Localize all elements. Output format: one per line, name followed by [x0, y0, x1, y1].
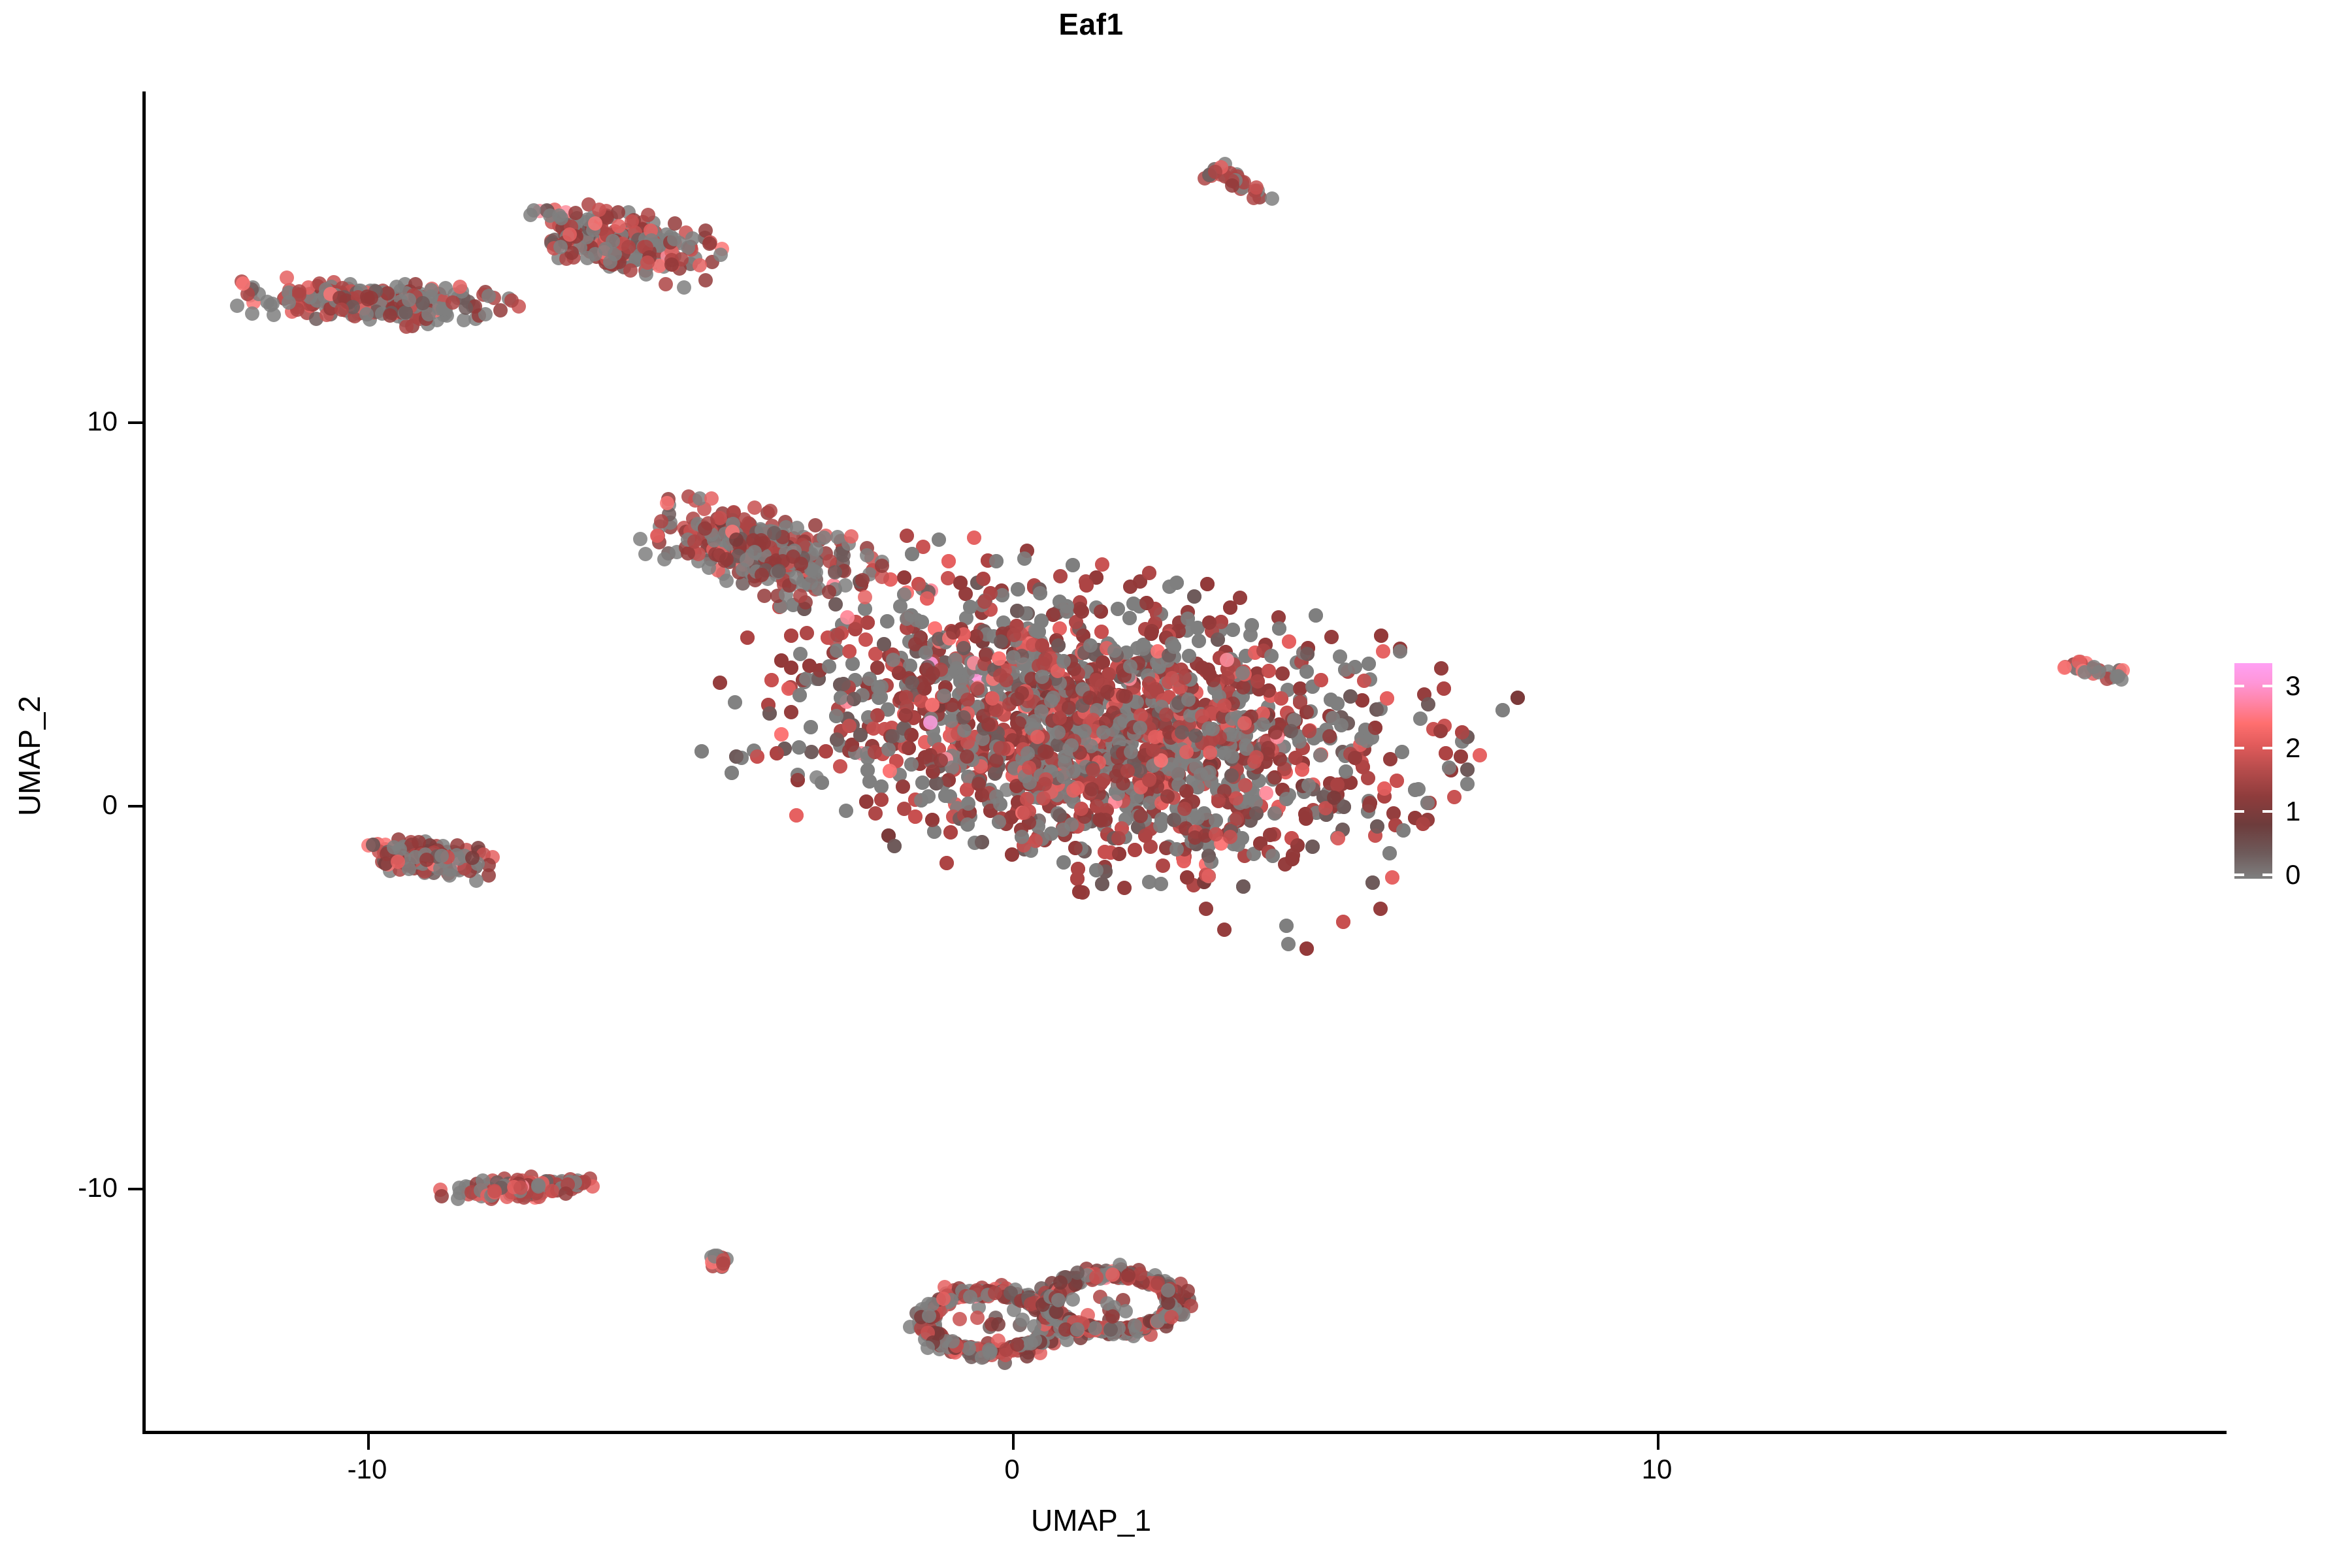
- scatter-point: [641, 208, 655, 222]
- scatter-point: [1220, 671, 1235, 685]
- scatter-point: [828, 597, 843, 612]
- scatter-point: [1300, 647, 1315, 661]
- scatter-point: [1030, 730, 1045, 744]
- scatter-point: [1169, 842, 1184, 857]
- scatter-point: [1377, 781, 1392, 796]
- scatter-point: [1156, 858, 1170, 873]
- scatter-point: [1187, 589, 1201, 604]
- scatter-point: [822, 659, 836, 674]
- scatter-point: [1073, 602, 1087, 616]
- scatter-point: [1256, 717, 1270, 732]
- scatter-point: [1279, 792, 1294, 806]
- scatter-point: [953, 576, 968, 590]
- scatter-point: [1145, 624, 1159, 638]
- scatter-point: [925, 813, 939, 827]
- scatter-point: [1434, 661, 1448, 676]
- scatter-point: [1447, 790, 1462, 804]
- scatter-point: [1044, 826, 1058, 841]
- scatter-point: [1227, 728, 1241, 742]
- scatter-point: [625, 214, 639, 229]
- scatter-point: [230, 299, 244, 313]
- scatter-point: [1274, 691, 1288, 706]
- scatter-point: [1199, 902, 1213, 916]
- scatter-point: [967, 531, 981, 545]
- scatter-point: [1138, 828, 1152, 843]
- scatter-point: [523, 208, 538, 222]
- scatter-point: [1051, 638, 1066, 653]
- scatter-point: [1305, 840, 1320, 854]
- scatter-point: [956, 710, 971, 725]
- scatter-point: [887, 839, 902, 853]
- scatter-point: [983, 586, 998, 600]
- scatter-point: [866, 721, 881, 736]
- scatter-point: [1473, 748, 1487, 762]
- scatter-point: [784, 661, 798, 675]
- scatter-point: [911, 577, 926, 591]
- scatter-point: [1056, 855, 1071, 870]
- scatter-point: [603, 255, 617, 269]
- scatter-point: [804, 720, 818, 734]
- scatter-point: [1201, 849, 1216, 863]
- scatter-point: [553, 240, 568, 254]
- scatter-point: [1179, 745, 1194, 759]
- scatter-point: [989, 554, 1004, 568]
- scatter-point: [282, 295, 296, 310]
- scatter-point: [842, 644, 857, 659]
- scatter-point: [1376, 644, 1390, 659]
- scatter-point: [402, 293, 416, 307]
- scatter-point: [725, 766, 739, 780]
- scatter-point: [792, 740, 806, 755]
- scatter-point: [960, 817, 975, 832]
- scatter-point: [868, 806, 883, 821]
- scatter-point: [993, 741, 1007, 755]
- scatter-point: [1370, 819, 1384, 834]
- scatter-point: [1010, 692, 1024, 706]
- scatter-point: [941, 773, 956, 787]
- scatter-point: [1290, 838, 1305, 853]
- scatter-point: [1201, 721, 1216, 736]
- scatter-point: [563, 227, 577, 242]
- scatter-point: [764, 673, 779, 687]
- scatter-point: [1053, 569, 1068, 583]
- scatter-point: [1202, 615, 1217, 630]
- scatter-point: [713, 676, 727, 690]
- scatter-point: [677, 280, 691, 295]
- scatter-point: [1299, 664, 1314, 679]
- scatter-point: [1064, 817, 1079, 832]
- scatter-point: [874, 792, 889, 807]
- scatter-point: [453, 280, 467, 294]
- scatter-point: [1265, 191, 1279, 206]
- scatter-point: [1017, 806, 1032, 820]
- scatter-point: [1126, 596, 1141, 611]
- scatter-point: [1020, 792, 1034, 806]
- scatter-point: [1035, 638, 1049, 653]
- scatter-point: [923, 748, 938, 762]
- scatter-point: [1309, 608, 1323, 623]
- scatter-point: [1279, 919, 1294, 933]
- scatter-point: [1128, 843, 1142, 857]
- scatter-point: [870, 708, 885, 723]
- scatter-point: [245, 306, 259, 321]
- scatter-point: [1074, 802, 1088, 816]
- scatter-point: [1322, 729, 1337, 743]
- scatter-point: [1437, 681, 1451, 696]
- scatter-point: [1382, 846, 1397, 860]
- scatter-point: [793, 647, 808, 661]
- scatter-point: [1421, 697, 1435, 711]
- scatter-point: [1261, 741, 1275, 755]
- scatter-point: [1368, 721, 1382, 735]
- scatter-point: [845, 657, 860, 671]
- scatter-point: [941, 554, 956, 568]
- scatter-point: [1177, 670, 1192, 685]
- scatter-point: [1079, 578, 1094, 593]
- scatter-point: [1179, 784, 1194, 798]
- scatter-point: [1413, 711, 1428, 726]
- scatter-point: [383, 308, 397, 323]
- scatter-point: [923, 715, 938, 730]
- scatter-point: [1033, 586, 1047, 600]
- scatter-point: [1068, 841, 1083, 855]
- scatter-point: [606, 234, 620, 248]
- scatter-point: [1090, 799, 1104, 813]
- scatter-point: [1237, 716, 1252, 730]
- scatter-point: [1420, 796, 1435, 810]
- scatter-point: [1455, 725, 1469, 740]
- scatter-point: [750, 749, 764, 764]
- scatter-point: [1154, 877, 1168, 891]
- scatter-point: [1511, 691, 1525, 705]
- scatter-point: [1208, 165, 1222, 179]
- umap-feature-plot: Eaf1 10 0 -10 -10 0 10 UMAP_1 UMAP_2 3 2…: [0, 0, 2352, 1568]
- scatter-point: [1362, 657, 1376, 671]
- scatter-point: [877, 637, 891, 651]
- scatter-point: [1072, 885, 1086, 899]
- scatter-point: [1385, 870, 1399, 885]
- scatter-point: [789, 808, 804, 823]
- scatter-point: [1395, 745, 1409, 759]
- scatter-point: [1272, 621, 1286, 636]
- scatter-point: [858, 632, 873, 647]
- scatter-point: [847, 692, 861, 706]
- scatter-point: [668, 216, 682, 231]
- scatter-point: [1362, 798, 1377, 813]
- scatter-point: [1330, 777, 1345, 792]
- scatter-point: [1153, 819, 1168, 833]
- scatter-point: [920, 591, 934, 606]
- scatter-point: [969, 629, 983, 644]
- scatter-point: [1365, 875, 1380, 890]
- scatter-point: [1433, 724, 1448, 738]
- scatter-point: [1098, 845, 1112, 859]
- scatter-point: [993, 797, 1007, 811]
- scatter-point: [829, 709, 843, 723]
- scatter-point: [1169, 576, 1184, 590]
- page-title: Eaf1: [0, 7, 2182, 42]
- scatter-point: [976, 572, 990, 586]
- scatter-point: [1015, 830, 1029, 844]
- scatter-point: [1284, 724, 1298, 738]
- scatter-point: [399, 305, 413, 319]
- scatter-point: [1249, 806, 1264, 821]
- scatter-point: [659, 277, 673, 291]
- scatter-point: [1094, 625, 1109, 639]
- scatter-point: [859, 794, 874, 809]
- scatter-point: [1343, 689, 1358, 704]
- scatter-point: [1053, 808, 1067, 823]
- scatter-point: [939, 856, 954, 870]
- scatter-point: [961, 796, 975, 811]
- scatter-point: [1220, 653, 1234, 667]
- scatter-point: [1098, 813, 1113, 827]
- scatter-point: [698, 273, 713, 287]
- scatter-point: [1036, 791, 1051, 806]
- scatter-point: [784, 705, 798, 719]
- scatter-point: [1390, 774, 1404, 788]
- scatter-point: [1134, 809, 1148, 823]
- plot-panel: [144, 91, 2182, 1432]
- scatter-point: [836, 677, 851, 691]
- scatter-point: [1083, 691, 1097, 705]
- scatter-point: [896, 779, 910, 794]
- scatter-point: [568, 206, 583, 220]
- scatter-point: [1180, 870, 1194, 885]
- scatter-point: [1281, 937, 1296, 951]
- scatter-point: [1267, 806, 1282, 821]
- scatter-point: [1330, 696, 1345, 711]
- scatter-point: [853, 728, 868, 742]
- scatter-point: [640, 255, 655, 270]
- scatter-point: [1226, 623, 1240, 637]
- scatter-point: [1301, 778, 1316, 792]
- scatter-point: [702, 237, 717, 251]
- scatter-point: [1333, 649, 1347, 664]
- scatter-point: [975, 835, 989, 849]
- scatter-point: [1416, 817, 1430, 831]
- scatter-point: [937, 689, 951, 703]
- scatter-point: [1396, 823, 1411, 838]
- scatter-point: [926, 666, 940, 681]
- scatter-point: [1209, 813, 1223, 828]
- scatter-point: [1095, 877, 1109, 891]
- scatter-point: [1348, 660, 1362, 674]
- scatter-point: [1011, 582, 1025, 596]
- scatter-point: [1313, 748, 1328, 762]
- scatter-point: [989, 753, 1004, 768]
- scatter-point: [1070, 872, 1085, 886]
- scatter-point: [770, 746, 784, 760]
- scatter-point: [774, 727, 789, 742]
- scatter-point: [1117, 881, 1132, 895]
- scatter-point: [1393, 644, 1407, 659]
- scatter-point: [1460, 762, 1475, 777]
- scatter-point: [1028, 623, 1043, 638]
- scatter-point: [802, 659, 817, 673]
- scatter-point: [1225, 749, 1239, 764]
- scatter-point: [621, 240, 636, 254]
- scatter-point: [819, 744, 833, 759]
- scatter-point: [904, 728, 919, 742]
- scatter-point: [1035, 670, 1049, 684]
- scatter-point: [1200, 577, 1215, 591]
- scatter-point: [1217, 923, 1232, 937]
- scatter-point: [1201, 869, 1216, 883]
- scatter-point: [988, 766, 1002, 781]
- scatter-point: [1123, 580, 1137, 594]
- scatter-point: [1122, 611, 1137, 625]
- scatter-point: [1336, 915, 1350, 929]
- scatter-point: [1454, 749, 1468, 764]
- scatter-point: [1102, 667, 1116, 681]
- scatter-point: [1225, 178, 1239, 193]
- scatter-point: [1245, 618, 1259, 632]
- scatter-point: [1165, 671, 1179, 685]
- scatter-point: [972, 777, 986, 791]
- scatter-point: [830, 628, 845, 642]
- scatter-point: [1324, 630, 1339, 644]
- scatter-point: [740, 630, 755, 645]
- scatter-point: [1326, 711, 1340, 725]
- scatter-point: [1275, 666, 1290, 681]
- scatter-point: [552, 208, 566, 223]
- scatter-point: [280, 270, 294, 285]
- scatter-point: [1408, 783, 1422, 797]
- scatter-point: [897, 587, 911, 602]
- scatter-point: [1439, 746, 1453, 760]
- scatter-point: [914, 793, 928, 808]
- scatter-point: [913, 630, 928, 645]
- scatter-point: [784, 629, 798, 643]
- scatter-point: [868, 745, 882, 759]
- scatter-point: [1190, 811, 1205, 825]
- scatter-point: [1460, 777, 1475, 791]
- scatter-point: [1142, 676, 1156, 691]
- scatter-point: [1044, 694, 1058, 708]
- scatter-point: [667, 232, 681, 246]
- scatter-point: [860, 615, 875, 630]
- scatter-point: [1264, 649, 1279, 663]
- scatter-point: [1360, 734, 1374, 748]
- scatter-point: [1331, 831, 1345, 845]
- scatter-point: [1299, 705, 1314, 719]
- scatter-point: [905, 547, 919, 561]
- scatter-point: [919, 645, 933, 660]
- scatter-point: [1299, 941, 1314, 956]
- scatter-point: [839, 804, 853, 818]
- scatter-point: [1167, 813, 1181, 827]
- scatter-point: [897, 570, 911, 585]
- scatter-point: [1123, 659, 1137, 674]
- scatter-point: [1285, 852, 1299, 866]
- scatter-point: [1262, 664, 1276, 678]
- scatter-point: [694, 744, 709, 759]
- scatter-point: [1112, 847, 1126, 861]
- scatter-point: [762, 706, 777, 721]
- scatter-point: [729, 749, 743, 764]
- scatter-point: [943, 789, 957, 804]
- scatter-point: [1095, 557, 1109, 572]
- scatter-point: [1022, 760, 1036, 775]
- scatter-point: [943, 825, 958, 840]
- scatter-point: [915, 776, 930, 790]
- scatter-point: [1236, 879, 1250, 894]
- scatter-point: [1314, 673, 1328, 687]
- scatter-point: [1495, 703, 1510, 717]
- scatter-point: [1192, 634, 1206, 648]
- scatter-point: [1146, 743, 1160, 757]
- scatter-point: [236, 276, 250, 291]
- scatter-point: [1066, 558, 1080, 572]
- scatter-point: [1100, 685, 1115, 699]
- scatter-point: [833, 759, 847, 774]
- scatter-point: [1373, 902, 1388, 916]
- scatter-point: [1267, 770, 1282, 785]
- scatter-point: [960, 749, 974, 764]
- scatter-point: [1230, 811, 1244, 826]
- scatter-point: [416, 296, 430, 310]
- scatter-point: [932, 532, 946, 547]
- scatter-point: [1249, 180, 1264, 195]
- scatter-point: [1236, 680, 1250, 694]
- scatter-point: [1177, 802, 1192, 816]
- scatter-point: [1142, 566, 1156, 580]
- scatter-point: [1355, 693, 1369, 708]
- scatter-point: [1327, 791, 1341, 805]
- scatter-point: [713, 248, 728, 262]
- scatter-point: [1160, 789, 1175, 804]
- scatter-point: [1021, 746, 1035, 760]
- scatter-point: [1017, 657, 1031, 672]
- scatter-point: [804, 745, 819, 759]
- scatter-point: [900, 529, 914, 543]
- scatter-point: [1111, 602, 1125, 616]
- scatter-point: [883, 764, 897, 778]
- scatter-point: [1089, 863, 1103, 877]
- scatter-point: [792, 688, 807, 702]
- scatter-point: [1302, 724, 1316, 738]
- scatter-point: [880, 614, 894, 629]
- scatter-point: [1223, 600, 1237, 615]
- scatter-point: [1209, 827, 1223, 841]
- scatter-point: [1374, 629, 1388, 643]
- scatter-point: [1017, 551, 1032, 566]
- scatter-point: [482, 289, 496, 303]
- scatter-point: [800, 626, 814, 640]
- scatter-point: [902, 741, 916, 755]
- scatter-point: [359, 307, 374, 321]
- scatter-point: [1299, 811, 1313, 826]
- scatter-point: [1188, 728, 1203, 743]
- scatter-point: [815, 776, 829, 790]
- scatter-point: [791, 773, 805, 787]
- scatter-point: [693, 258, 707, 272]
- scatter-point: [834, 691, 848, 705]
- scatter-point: [1066, 783, 1081, 798]
- scatter-point: [1249, 750, 1264, 764]
- scatter-point: [1217, 698, 1232, 713]
- scatter-point: [904, 608, 919, 623]
- scatter-point: [908, 809, 923, 824]
- scatter-point: [1235, 666, 1250, 680]
- scatter-point: [1096, 773, 1111, 787]
- scatter-point: [898, 708, 913, 723]
- scatter-point: [588, 247, 602, 261]
- scatter-point: [728, 695, 742, 710]
- scatter-point: [886, 653, 900, 667]
